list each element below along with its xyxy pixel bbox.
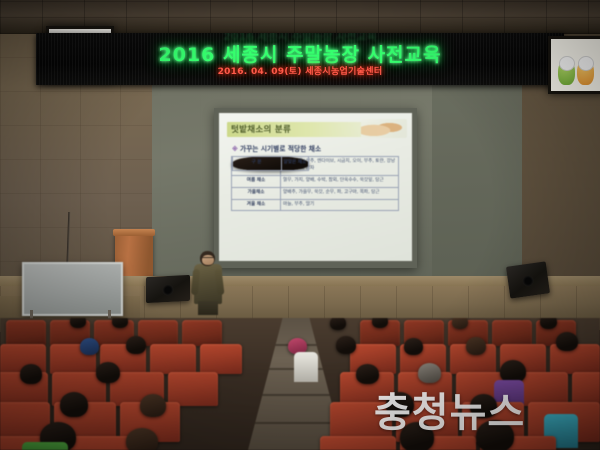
audience-torso xyxy=(294,352,318,382)
table-cell-category: 가을채소 xyxy=(232,187,281,199)
audience-head xyxy=(404,338,423,355)
audience-head xyxy=(556,332,578,351)
audience-head xyxy=(126,336,146,354)
podium-top xyxy=(113,229,155,236)
pa-speaker-right xyxy=(506,261,550,298)
audience-head xyxy=(336,336,356,354)
led-banner: 2016 세종시 주말농장 사전교육 2016 세종시 주말농장 사전교육 20… xyxy=(36,33,564,85)
photo-canvas: 세종특별자치시 2016 세종시 주말농장 사전교육 2016 세종시 주말농장… xyxy=(0,0,600,450)
audience-head xyxy=(140,394,166,417)
audience-head xyxy=(372,318,388,328)
glasses-icon xyxy=(202,257,214,261)
grey-display-board xyxy=(22,262,123,316)
table-cell-category: 여름 채소 xyxy=(232,175,281,187)
audience-head-cap xyxy=(80,338,99,355)
slide-table: 구 분 알맞은 채소 봄 채소 배추, 열무, 상추, 엔다이브, 시금치, 오… xyxy=(231,156,399,211)
seat xyxy=(320,436,396,450)
audience-head xyxy=(60,392,88,417)
table-cell-vegetables: 열무, 가지, 양배, 수박, 참외, 단옥수수, 쑥갓잎, 당근 xyxy=(281,175,399,187)
audience-head xyxy=(540,318,557,329)
table-row: 여름 채소 열무, 가지, 양배, 수박, 참외, 단옥수수, 쑥갓잎, 당근 xyxy=(232,175,399,187)
table-cell-category: 겨울 채소 xyxy=(232,199,281,211)
audience-head xyxy=(96,362,120,383)
table-header-vegetables: 알맞은 채소 xyxy=(281,157,309,171)
seat xyxy=(150,344,196,374)
audience-head xyxy=(112,318,128,328)
audience-head xyxy=(466,337,486,355)
table-cell-vegetables: 양배추, 가을무, 쑥갓, 순무, 파, 고구마, 쪽파, 당근 xyxy=(281,187,399,199)
audience-head xyxy=(20,364,42,384)
table-header-row: 구 분 알맞은 채소 xyxy=(232,156,310,171)
speaker-cone-icon xyxy=(163,284,174,296)
audience-head xyxy=(452,318,468,329)
slide-decoration-image xyxy=(361,119,407,138)
presenter-legs xyxy=(198,301,218,315)
pa-speaker-left xyxy=(146,275,190,303)
presenter-standing xyxy=(193,251,223,313)
seat xyxy=(200,344,242,374)
mascot-green-head xyxy=(559,56,575,71)
aisle-step xyxy=(248,394,344,396)
seat xyxy=(492,320,532,346)
mascot-green-icon xyxy=(558,59,575,85)
lightbox-right xyxy=(548,36,600,94)
table-cell-vegetables: 마늘, 부추, 딸기 xyxy=(281,199,399,211)
mascot-orange-head xyxy=(578,56,594,71)
seat xyxy=(182,320,222,346)
seat xyxy=(572,372,600,406)
slide-bullet-text: 가꾸는 시기별로 적당한 채소 xyxy=(240,145,321,153)
seat xyxy=(168,372,218,406)
bullet-marker-icon: ※ xyxy=(232,146,238,153)
speaker-cone-icon xyxy=(522,274,534,286)
table-header-category: 구 분 xyxy=(232,157,281,171)
audience-head xyxy=(330,318,346,330)
audience-head xyxy=(70,318,86,328)
table-row: 가을채소 양배추, 가을무, 쑥갓, 순무, 파, 고구마, 쪽파, 당근 xyxy=(232,187,399,199)
audience-torso xyxy=(22,442,68,450)
slide-bullet-line: ※가꾸는 시기별로 적당한 채소 xyxy=(232,143,321,153)
presentation-slide: 텃밭채소의 분류 ※가꾸는 시기별로 적당한 채소 구 분 알맞은 채소 봄 채… xyxy=(219,113,412,261)
audience-head xyxy=(126,428,158,450)
table-row: 겨울 채소 마늘, 부추, 딸기 xyxy=(232,199,399,211)
led-banner-title: 2016 세종시 주말농장 사전교육 xyxy=(36,40,564,67)
mascot-orange-icon xyxy=(577,59,594,85)
led-banner-subtitle: 2016. 04. 09(토) 세종시농업기술센터 xyxy=(36,64,564,77)
watermark: 충청뉴스 xyxy=(374,380,525,438)
seat xyxy=(6,320,46,346)
slide-title: 텃밭채소의 분류 xyxy=(231,123,291,135)
projection-screen: 텃밭채소의 분류 ※가꾸는 시기별로 적당한 채소 구 분 알맞은 채소 봄 채… xyxy=(214,108,417,268)
